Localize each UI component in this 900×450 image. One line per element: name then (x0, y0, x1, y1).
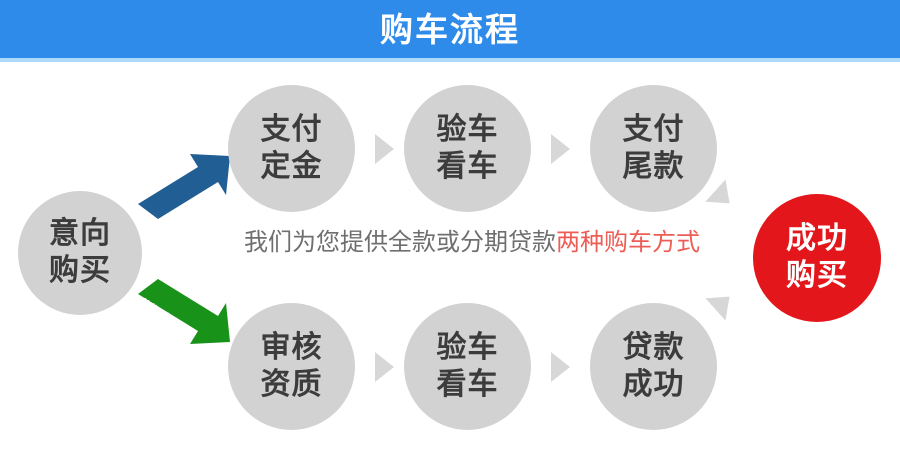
flow-node-line-1: 支付 (261, 112, 323, 149)
flow-node-loan-approved: 贷款 成功 (590, 303, 717, 430)
flow-node-line-1: 成功 (786, 221, 848, 258)
flow-node-line-2: 购买 (786, 258, 848, 295)
flow-node-inspect-car-bottom: 验车 看车 (404, 303, 531, 430)
flow-node-line-1: 验车 (437, 330, 499, 367)
flow-node-line-1: 审核 (261, 330, 323, 367)
flow-node-line-1: 验车 (437, 112, 499, 149)
flow-node-line-1: 意向 (49, 216, 111, 253)
center-note-accent-text: 两种购车方式 (556, 228, 700, 256)
flow-node-line-2: 看车 (437, 149, 499, 186)
flow-node-line-2: 成功 (623, 367, 685, 404)
connector-arrow-bottom-2 (551, 352, 570, 382)
connector-arrow-bottom-to-success (705, 285, 739, 320)
connector-arrow-top-1 (375, 134, 394, 164)
header-underline-divider (0, 58, 900, 62)
flow-node-line-2: 资质 (261, 367, 323, 404)
connector-arrow-top-to-success (705, 179, 739, 214)
header-banner: 购车流程 (0, 0, 900, 58)
flow-node-line-2: 看车 (437, 367, 499, 404)
flow-node-line-2: 购买 (49, 253, 111, 290)
center-note: 我们为您提供全款或分期贷款两种购车方式 (222, 230, 722, 254)
flow-node-intent-to-buy: 意向 购买 (18, 191, 142, 315)
branch-arrow-full-payment: 全款购车 (130, 152, 240, 222)
flow-node-verify-qualification: 审核 资质 (228, 303, 355, 430)
flow-node-inspect-car-top: 验车 看车 (404, 85, 531, 212)
flow-node-line-1: 贷款 (623, 330, 685, 367)
center-note-main-text: 我们为您提供全款或分期贷款 (244, 228, 556, 256)
flow-node-line-2: 尾款 (623, 149, 685, 186)
branch-arrow-installment: 分期购车 (130, 278, 240, 348)
connector-arrow-top-2 (551, 134, 570, 164)
flow-node-purchase-success: 成功 购买 (753, 194, 881, 322)
purchase-flow-infographic: 购车流程 意向 购买 全款购车 分期购车 支付 定金 验车 看车 支付 尾款 审… (0, 0, 900, 450)
connector-arrow-bottom-1 (375, 352, 394, 382)
flow-node-pay-deposit: 支付 定金 (228, 85, 355, 212)
flow-node-line-2: 定金 (261, 149, 323, 186)
flow-node-pay-balance: 支付 尾款 (590, 85, 717, 212)
flow-node-line-1: 支付 (623, 112, 685, 149)
page-title: 购车流程 (380, 13, 520, 46)
